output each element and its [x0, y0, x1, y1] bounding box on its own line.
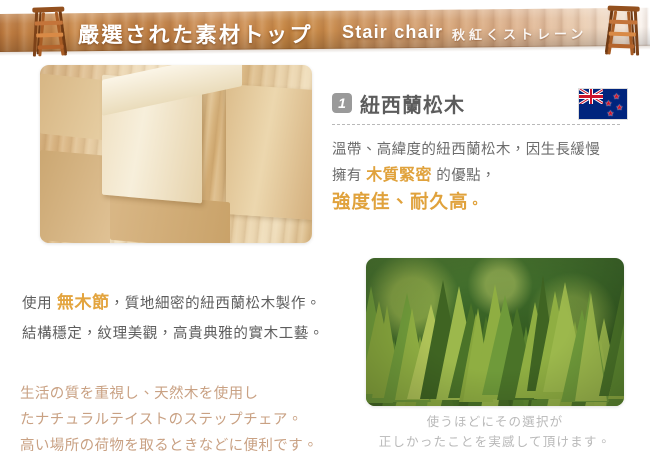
banner-title: 嚴選された素材トップ: [78, 19, 313, 49]
southern-cross-star: ★: [616, 104, 623, 112]
product-description-zh: 使用 無木節，質地細密的紐西蘭松木製作。 結構穩定，紋理美觀，高貴典雅的實木工藝…: [22, 288, 342, 349]
description-text: ，質地細密的紐西蘭松木製作。: [110, 296, 321, 312]
number-badge: 1: [332, 93, 352, 113]
product-description-jp: 生活の質を重視し、天然木を使用し たナチュラルテイストのステップチェア。 高い場…: [20, 381, 350, 459]
southern-cross-star: ★: [605, 100, 612, 108]
description-line: 生活の質を重視し、天然木を使用し: [20, 381, 350, 407]
union-jack-canton: [579, 89, 603, 104]
step-ladder-icon-left: [27, 1, 75, 57]
material-title-row: 1 紐西蘭松木 ★ ★ ★ ★: [332, 88, 632, 118]
description-line: 擁有 木質緊密 的優點，: [332, 163, 632, 189]
caption-line: 正しかったことを実感して頂けます。: [366, 432, 624, 452]
material-title: 紐西蘭松木: [360, 89, 465, 118]
wood-block: [40, 73, 108, 140]
page-header: 嚴選された素材トップ Stair chair 秋紅くストレーン: [0, 0, 650, 62]
product-material-page: 嚴選された素材トップ Stair chair 秋紅くストレーン 1 紐西蘭松木 …: [0, 0, 650, 470]
banner-english-title: Stair chair: [342, 22, 443, 43]
step-ladder-icon-right: [597, 0, 645, 56]
description-line: たナチュラルテイストのステップチェア。: [20, 407, 350, 433]
material-description: 溫帶、高緯度的紐西蘭松木，因生長緩慢 擁有 木質緊密 的優點， 強度佳、耐久高。: [332, 137, 632, 217]
highlight-text: 木質緊密: [366, 167, 432, 184]
banner-japanese-subtitle: 秋紅くストレーン: [452, 23, 588, 43]
punctuation: 。: [469, 196, 483, 211]
wood-beam-photo: [40, 65, 312, 243]
description-text: 的優點，: [436, 168, 496, 184]
forest-vignette: [366, 258, 624, 406]
description-text: 使用: [22, 296, 52, 312]
pine-forest-photo: [366, 258, 624, 406]
material-info-panel: 1 紐西蘭松木 ★ ★ ★ ★ 溫帶、高緯度的紐西蘭松木，因生長緩慢 擁有 木: [332, 88, 632, 217]
southern-cross-star: ★: [607, 110, 614, 118]
southern-cross-star: ★: [613, 93, 620, 101]
description-line: 溫帶、高緯度的紐西蘭松木，因生長緩慢: [332, 137, 632, 163]
highlight-text: 無木節: [57, 293, 110, 312]
description-text: 擁有: [332, 168, 362, 184]
forest-photo-caption: 使うほどにその選択が 正しかったことを実感して頂けます。: [366, 412, 624, 452]
description-line: 高い場所の荷物を取るときなどに便利です。: [20, 433, 350, 459]
wood-block: [226, 84, 312, 220]
highlight-strength-text: 強度佳、耐久高: [332, 191, 469, 212]
description-line: 使用 無木節，質地細密的紐西蘭松木製作。: [22, 288, 342, 319]
wood-block: [40, 150, 110, 243]
caption-line: 使うほどにその選択が: [366, 412, 624, 432]
new-zealand-flag-icon: ★ ★ ★ ★: [578, 88, 628, 120]
description-line: 結構穩定，紋理美觀，高貴典雅的實木工藝。: [22, 319, 342, 349]
description-line-emphasis: 強度佳、耐久高。: [332, 189, 632, 217]
dashed-divider: [332, 124, 620, 125]
